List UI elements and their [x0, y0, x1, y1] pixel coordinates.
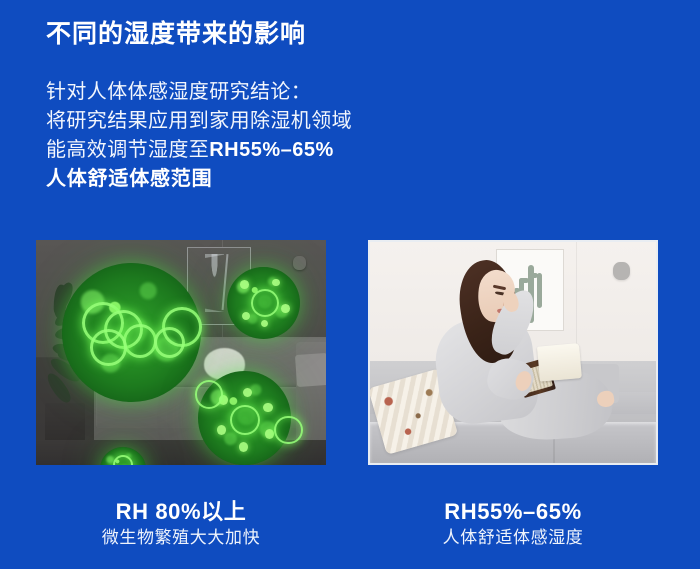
intro-line-1: 针对人体体感湿度研究结论： — [46, 78, 466, 107]
germ-cluster-small-top — [227, 267, 300, 339]
germ-cluster-bottom — [198, 371, 291, 466]
humidity-infographic-page: 不同的湿度带来的影响 针对人体体感湿度研究结论： 将研究结果应用到家用除湿机领域… — [0, 0, 700, 569]
caption-title-right: RH55%–65% — [368, 498, 658, 525]
caption-sub-right: 人体舒适体感湿度 — [368, 525, 658, 551]
caption-comfort-humidity: RH55%–65% 人体舒适体感湿度 — [368, 498, 658, 551]
intro-line-4: 人体舒适体感范围 — [46, 165, 466, 194]
intro-line-3: 能高效调节湿度至RH55%–65% — [46, 136, 466, 165]
light-room-scene — [370, 242, 656, 463]
germ-cluster-large — [62, 263, 201, 403]
caption-high-humidity: RH 80%以上 微生物繁殖大大加快 — [36, 498, 326, 551]
caption-title-left: RH 80%以上 — [36, 498, 326, 525]
page-title: 不同的湿度带来的影响 — [46, 19, 306, 49]
intro-paragraph: 针对人体体感湿度研究结论： 将研究结果应用到家用除湿机领域 能高效调节湿度至RH… — [46, 78, 466, 194]
wall-thermostat-dark-icon — [293, 256, 306, 270]
dark-room-scene — [36, 240, 326, 465]
sofa-cushion-dark — [295, 353, 326, 387]
photo-high-humidity — [36, 240, 326, 465]
intro-line-3-normal: 能高效调节湿度至 — [46, 139, 209, 161]
caption-sub-left: 微生物繁殖大大加快 — [36, 525, 326, 551]
intro-line-3-highlight: RH55%–65% — [209, 139, 334, 161]
intro-line-2: 将研究结果应用到家用除湿机领域 — [46, 107, 466, 136]
book-open-page — [537, 343, 582, 382]
photo-comfort-humidity — [368, 240, 658, 465]
woman-reading — [427, 260, 616, 459]
